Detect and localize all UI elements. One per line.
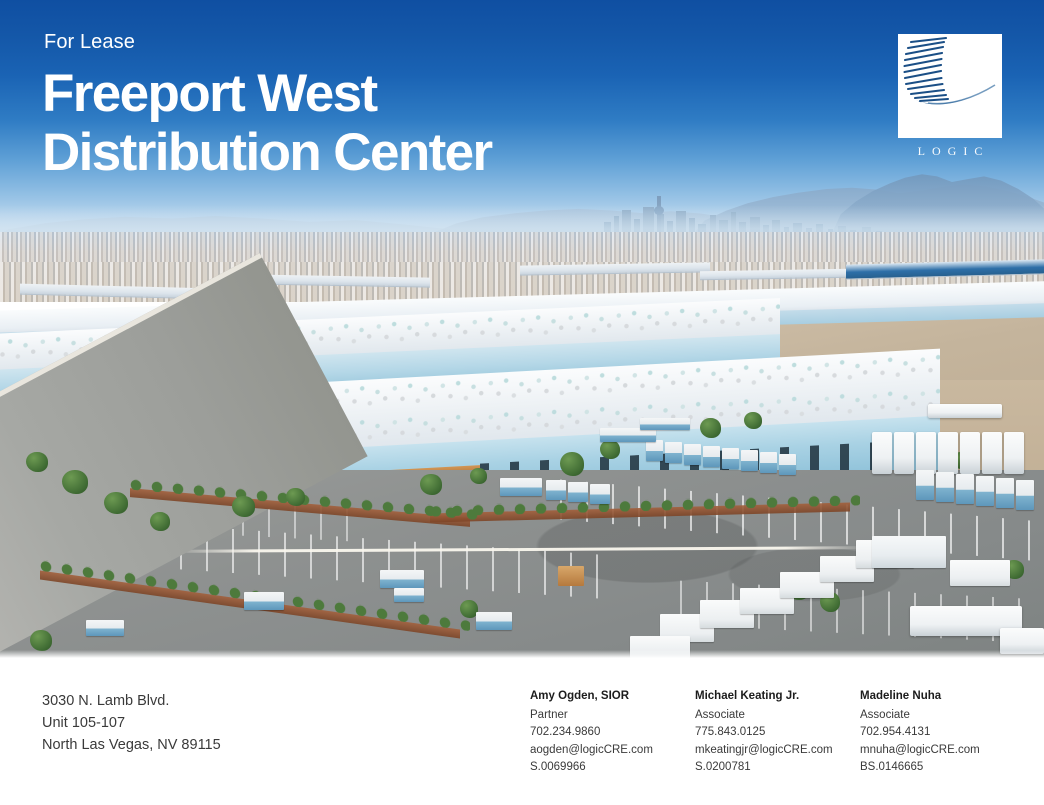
- modular-trailer: [546, 480, 566, 500]
- contact-email[interactable]: aogden@logicCRE.com: [530, 742, 662, 760]
- eyebrow-label: For Lease: [44, 30, 492, 54]
- contact-card: Madeline Nuha Associate 702.954.4131 mnu…: [860, 688, 992, 777]
- address-line-1: 3030 N. Lamb Blvd.: [42, 690, 221, 712]
- modular-trailer: [640, 418, 690, 430]
- tree: [232, 496, 255, 517]
- tree: [600, 440, 620, 459]
- modular-trailer: [722, 448, 739, 469]
- modular-trailer: [394, 588, 424, 602]
- contact-phone[interactable]: 775.843.0125: [695, 724, 827, 742]
- contact-phone[interactable]: 702.234.9860: [530, 724, 662, 742]
- semi-trailer: [982, 432, 1002, 474]
- modular-trailer: [380, 570, 424, 588]
- modular-trailer: [476, 612, 512, 630]
- modular-trailer: [684, 444, 701, 465]
- logo-wordmark: LOGIC: [898, 144, 1002, 159]
- modular-trailer: [936, 472, 954, 502]
- modular-trailer: [600, 428, 656, 442]
- contact-list: Amy Ogden, SIOR Partner 702.234.9860 aog…: [530, 688, 992, 777]
- tree: [700, 418, 721, 438]
- modular-trailer: [916, 470, 934, 500]
- modular-trailer: [956, 474, 974, 504]
- photo-bottom-fade: [0, 650, 1044, 658]
- logic-logo[interactable]: LOGIC: [898, 34, 1002, 159]
- modular-trailer: [646, 440, 663, 461]
- page-title-line-2: Distribution Center: [42, 123, 492, 182]
- modular-trailer: [590, 484, 610, 504]
- address-line-3: North Las Vegas, NV 89115: [42, 734, 221, 756]
- contact-card: Michael Keating Jr. Associate 775.843.01…: [695, 688, 827, 777]
- modular-trailer: [741, 450, 758, 471]
- semi-trailer: [928, 404, 1002, 418]
- semi-trailer: [916, 432, 936, 474]
- contact-phone[interactable]: 702.954.4131: [860, 724, 992, 742]
- contact-title: Associate: [860, 707, 992, 725]
- guard-shack: [558, 566, 584, 586]
- address-line-2: Unit 105-107: [42, 712, 221, 734]
- modular-trailer: [760, 452, 777, 473]
- tree: [744, 412, 762, 429]
- contact-license: S.0200781: [695, 759, 827, 777]
- modular-trailer: [244, 592, 284, 610]
- tree: [104, 492, 128, 514]
- logo-mark: [898, 34, 1002, 138]
- modular-trailer: [1016, 480, 1034, 510]
- tree: [286, 488, 305, 506]
- footer: 3030 N. Lamb Blvd. Unit 105-107 North La…: [0, 658, 1044, 805]
- header-block: For Lease Freeport West Distribution Cen…: [42, 30, 492, 183]
- modular-trailer: [500, 478, 542, 496]
- modular-trailer: [703, 446, 720, 467]
- contact-name: Amy Ogden, SIOR: [530, 688, 662, 706]
- contact-card: Amy Ogden, SIOR Partner 702.234.9860 aog…: [530, 688, 662, 777]
- modular-trailer: [86, 620, 124, 636]
- tree: [420, 474, 442, 495]
- semi-trailer: [894, 432, 914, 474]
- semi-trailer: [938, 432, 958, 474]
- semi-trailer: [872, 432, 892, 474]
- contact-title: Partner: [530, 707, 662, 725]
- tree: [30, 630, 52, 651]
- tree: [470, 468, 487, 484]
- modular-trailer: [996, 478, 1014, 508]
- page-title-line-1: Freeport West: [42, 64, 492, 123]
- contact-name: Madeline Nuha: [860, 688, 992, 706]
- contact-email[interactable]: mnuha@logicCRE.com: [860, 742, 992, 760]
- modular-trailer: [779, 454, 796, 475]
- modular-trailer: [950, 560, 1010, 586]
- modular-trailer: [665, 442, 682, 463]
- modular-trailer: [872, 536, 946, 568]
- contact-name: Michael Keating Jr.: [695, 688, 827, 706]
- modular-trailer: [568, 482, 588, 502]
- contact-title: Associate: [695, 707, 827, 725]
- property-address: 3030 N. Lamb Blvd. Unit 105-107 North La…: [42, 690, 221, 756]
- brochure-page: For Lease Freeport West Distribution Cen…: [0, 0, 1044, 805]
- contact-license: S.0069966: [530, 759, 662, 777]
- semi-trailer: [960, 432, 980, 474]
- tree: [62, 470, 88, 494]
- modular-trailer: [976, 476, 994, 506]
- semi-trailer: [1004, 432, 1024, 474]
- tree: [560, 452, 584, 476]
- tree: [26, 452, 48, 472]
- tree: [150, 512, 170, 531]
- contact-email[interactable]: mkeatingjr@logicCRE.com: [695, 742, 827, 760]
- contact-license: BS.0146665: [860, 759, 992, 777]
